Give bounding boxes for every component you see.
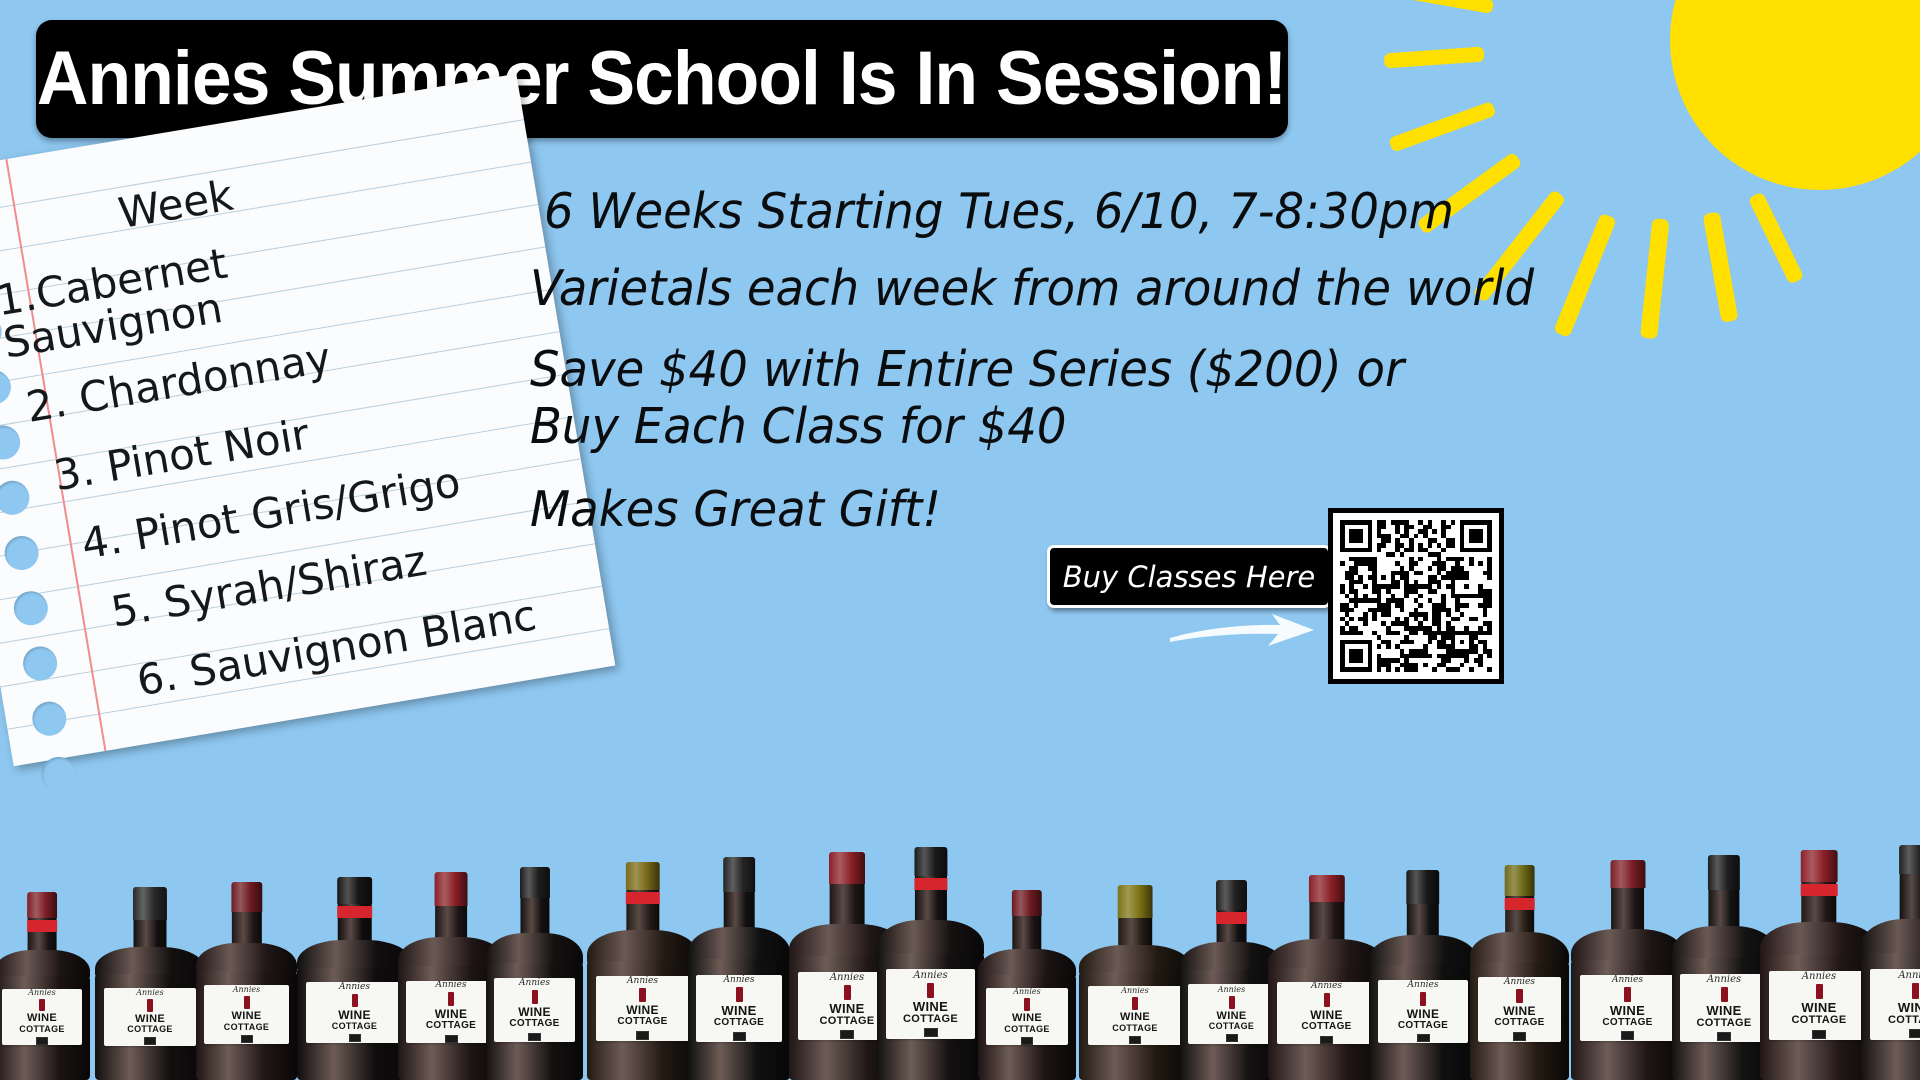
bottle-label-wine: WINE <box>27 1013 57 1025</box>
bottle-capsule <box>625 862 659 890</box>
bottle-label-script: Annies <box>1121 987 1148 995</box>
copy-varietals: Varietals each week from around the worl… <box>530 262 1509 317</box>
bottle-shoulder <box>587 930 698 965</box>
bottle-capsule <box>1118 885 1153 918</box>
bottle-label: AnniesWINECOTTAGE <box>1580 975 1675 1041</box>
bottle-label: AnniesWINECOTTAGE <box>1188 984 1275 1044</box>
wine-bottle: AnniesWINECOTTAGE <box>0 892 90 1080</box>
notepad-content: Week 1.CabernetSauvignon 2. Chardonnay 3… <box>0 74 615 766</box>
bottle-label-script: Annies <box>436 981 467 990</box>
bottle-label-emblem <box>448 992 454 1006</box>
bottle-label: AnniesWINECOTTAGE <box>1870 969 1920 1040</box>
bottle-label: AnniesWINECOTTAGE <box>1378 980 1469 1043</box>
bottle-label-emblem <box>244 996 250 1009</box>
bottle-label-cottage: COTTAGE <box>19 1025 64 1034</box>
bottle-label-box <box>1621 1031 1634 1040</box>
bottle-label-cottage: COTTAGE <box>509 1019 559 1030</box>
bottle-label: AnniesWINECOTTAGE <box>2 989 83 1045</box>
bottle-capsule <box>27 892 57 918</box>
bottle-label-emblem <box>1721 987 1728 1002</box>
bottle-label-cottage: COTTAGE <box>617 1017 667 1028</box>
wine-bottle: AnniesWINECOTTAGE <box>196 882 297 1080</box>
bottle-label-wine: WINE <box>1407 1008 1440 1021</box>
bottle-label: AnniesWINECOTTAGE <box>306 982 403 1043</box>
bottle-capsule <box>231 882 262 912</box>
bottle-capsule <box>133 887 167 920</box>
bottle-capsule-ring <box>1801 884 1838 896</box>
bottle-capsule <box>914 847 947 876</box>
bottle-capsule <box>1708 855 1740 890</box>
sun-ray <box>1640 218 1669 339</box>
bottle-label-cottage: COTTAGE <box>714 1018 764 1029</box>
promo-copy: 6 Weeks Starting Tues, 6/10, 7-8:30pm Va… <box>530 185 1560 537</box>
bottle-label-script: Annies <box>28 989 55 997</box>
bottle-label-box <box>1320 1036 1333 1044</box>
bottle-label-cottage: COTTAGE <box>1602 1018 1652 1029</box>
wine-bottle-row: AnniesWINECOTTAGEAnniesWINECOTTAGEAnnies… <box>0 820 1920 1080</box>
bottle-label: AnniesWINECOTTAGE <box>494 978 576 1042</box>
bottle-label-script: Annies <box>1013 988 1040 996</box>
bottle-label-cottage: COTTAGE <box>1209 1022 1254 1031</box>
bottle-label-wine: WINE <box>232 1011 262 1023</box>
bottle-label-cottage: COTTAGE <box>224 1023 269 1032</box>
bottle-capsule-ring <box>27 920 57 932</box>
bottle-shoulder <box>688 927 790 963</box>
sun-ray <box>1388 101 1496 153</box>
bottle-shoulder <box>1861 919 1920 957</box>
notepad-heading: Week <box>115 171 237 238</box>
bottle-label-box <box>1909 1029 1920 1038</box>
bottle-label: AnniesWINECOTTAGE <box>1088 986 1182 1045</box>
bottle-label-wine: WINE <box>913 1000 948 1014</box>
bottle-label-script: Annies <box>1504 978 1535 987</box>
sun-ray <box>1407 0 1494 14</box>
bottle-capsule-ring <box>625 892 659 904</box>
bottle-capsule <box>1308 875 1344 902</box>
bottle-label-box <box>1021 1037 1033 1045</box>
bottle-label: AnniesWINECOTTAGE <box>204 985 289 1044</box>
bottle-capsule <box>1899 845 1920 874</box>
bottle-label-script: Annies <box>1311 982 1342 991</box>
wine-bottle: AnniesWINECOTTAGE <box>1470 865 1569 1080</box>
bottle-capsule <box>519 867 549 898</box>
bottle-label: AnniesWINECOTTAGE <box>596 976 689 1041</box>
bottle-label-box <box>733 1032 746 1041</box>
bottle-label-script: Annies <box>830 973 864 983</box>
bottle-label-emblem <box>1816 984 1823 999</box>
bottle-label-cottage: COTTAGE <box>1004 1025 1049 1034</box>
bottle-label: AnniesWINECOTTAGE <box>1680 974 1767 1042</box>
buy-classes-button[interactable]: Buy Classes Here <box>1047 545 1331 608</box>
bottle-label-cottage: COTTAGE <box>1791 1015 1846 1027</box>
bottle-label-script: Annies <box>519 979 550 988</box>
bottle-label-box <box>528 1033 541 1041</box>
bottle-label: AnniesWINECOTTAGE <box>1277 982 1375 1044</box>
bottle-capsule <box>1406 870 1439 904</box>
bottle-label-emblem <box>1324 993 1330 1007</box>
notepad-item-3: 3. Pinot Noir <box>51 413 312 498</box>
qr-code-matrix <box>1340 520 1492 672</box>
bottle-label-box <box>1129 1036 1141 1044</box>
copy-class-price: Buy Each Class for $40 <box>530 400 1509 455</box>
notepad-item-1: 1.CabernetSauvignon <box>0 242 237 365</box>
bottle-label-cottage: COTTAGE <box>1888 1015 1920 1027</box>
wine-bottle: AnniesWINECOTTAGE <box>1861 845 1920 1080</box>
bottle-label-emblem <box>1132 997 1138 1010</box>
bottle-capsule-ring <box>1504 898 1535 910</box>
bottle-label-cottage: COTTAGE <box>1494 1018 1544 1029</box>
sun-ray <box>1702 212 1738 323</box>
buy-classes-button-label: Buy Classes Here <box>1063 560 1316 594</box>
bottle-capsule <box>1610 860 1645 888</box>
bottle-label-box <box>349 1034 361 1042</box>
bottle-label-wine: WINE <box>1898 1001 1920 1015</box>
bottle-label: AnniesWINECOTTAGE <box>1478 977 1561 1042</box>
notepad: Week 1.CabernetSauvignon 2. Chardonnay 3… <box>0 74 615 766</box>
bottle-label-script: Annies <box>913 971 947 981</box>
bottle-label: AnniesWINECOTTAGE <box>986 988 1068 1045</box>
bottle-label-box <box>1226 1034 1238 1042</box>
wine-bottle: AnniesWINECOTTAGE <box>1369 870 1477 1080</box>
bottle-label-wine: WINE <box>338 1009 371 1022</box>
bottle-label-emblem <box>1024 998 1030 1011</box>
sun-ray <box>1384 46 1485 68</box>
bottle-label-box <box>840 1030 854 1039</box>
wine-bottle: AnniesWINECOTTAGE <box>297 877 412 1080</box>
bottle-label-script: Annies <box>1612 976 1643 985</box>
bottle-label-box <box>36 1037 48 1045</box>
arrow-right-icon <box>1168 612 1318 654</box>
bottle-label-cottage: COTTAGE <box>1112 1024 1157 1033</box>
bottle-label-script: Annies <box>136 989 163 997</box>
wine-bottle: AnniesWINECOTTAGE <box>486 867 583 1080</box>
bottle-label-emblem <box>1229 996 1235 1009</box>
title-banner: Annies Summer School Is In Session! <box>36 20 1288 138</box>
bottle-capsule <box>723 857 755 892</box>
bottle-label-cottage: COTTAGE <box>1398 1021 1448 1032</box>
bottle-label-emblem <box>639 988 646 1002</box>
bottle-label-wine: WINE <box>721 1004 756 1018</box>
bottle-label-script: Annies <box>233 986 260 994</box>
bottle-label-emblem <box>147 999 153 1012</box>
bottle-label-script: Annies <box>1802 972 1836 982</box>
bottle-capsule-ring <box>1216 912 1248 924</box>
bottle-capsule <box>1012 890 1042 916</box>
wine-bottle: AnniesWINECOTTAGE <box>95 887 205 1080</box>
bottle-label-script: Annies <box>724 976 755 985</box>
bottle-label: AnniesWINECOTTAGE <box>104 988 196 1046</box>
qr-module <box>1487 667 1492 672</box>
bottle-capsule <box>337 877 373 904</box>
sun-ray <box>1553 213 1617 338</box>
bottle-capsule <box>1504 865 1535 896</box>
bottle-label-emblem <box>1420 992 1426 1006</box>
bottle-label-script: Annies <box>339 983 370 992</box>
bottle-capsule-ring <box>914 878 947 890</box>
bottle-capsule <box>1801 850 1838 882</box>
poster-canvas: Annies Summer School Is In Session! Week… <box>0 0 1920 1080</box>
bottle-label-script: Annies <box>1408 981 1439 990</box>
bottle-label-script: Annies <box>1707 975 1741 985</box>
bottle-label-script: Annies <box>627 977 658 986</box>
bottle-label-emblem <box>352 994 358 1007</box>
bottle-label-emblem <box>927 983 934 998</box>
bottle-label-wine: WINE <box>829 1002 864 1016</box>
bottle-label-emblem <box>532 990 538 1004</box>
wine-bottle: AnniesWINECOTTAGE <box>877 847 984 1080</box>
bottle-label-cottage: COTTAGE <box>426 1021 476 1032</box>
bottle-shoulder <box>486 933 583 967</box>
wine-bottle: AnniesWINECOTTAGE <box>1079 885 1191 1080</box>
bottle-label-emblem <box>1516 989 1523 1003</box>
bottle-label-wine: WINE <box>1012 1013 1042 1025</box>
bottle-label-cottage: COTTAGE <box>819 1016 874 1028</box>
bottle-label-emblem <box>39 999 45 1011</box>
bottle-label-cottage: COTTAGE <box>1696 1018 1751 1030</box>
bottle-label-cottage: COTTAGE <box>127 1025 172 1034</box>
sun-ray <box>1748 191 1804 284</box>
bottle-label-box <box>636 1031 649 1040</box>
bottle-label-script: Annies <box>1218 986 1245 994</box>
bottle-label-cottage: COTTAGE <box>332 1022 377 1031</box>
bottle-label-box <box>241 1035 253 1043</box>
bottle-label-box <box>144 1037 156 1045</box>
bottle-label-box <box>1417 1034 1430 1042</box>
bottle-label-wine: WINE <box>1801 1001 1836 1015</box>
wine-bottle: AnniesWINECOTTAGE <box>1268 875 1385 1080</box>
bottle-label-emblem <box>844 985 851 1000</box>
bottle-label-emblem <box>1912 983 1919 999</box>
bottle-label-emblem <box>736 987 743 1002</box>
bottle-label-box <box>1812 1030 1826 1039</box>
bottle-capsule <box>829 852 865 884</box>
bottle-label-cottage: COTTAGE <box>1301 1022 1351 1033</box>
bottle-capsule <box>435 872 468 906</box>
bottle-label-box <box>1717 1032 1731 1041</box>
wine-bottle: AnniesWINECOTTAGE <box>1571 860 1684 1080</box>
bottle-label-cottage: COTTAGE <box>903 1014 958 1026</box>
bottle-label: AnniesWINECOTTAGE <box>406 981 495 1043</box>
wine-bottle: AnniesWINECOTTAGE <box>587 862 698 1080</box>
bottle-label: AnniesWINECOTTAGE <box>1769 971 1868 1040</box>
copy-series-price: Save $40 with Entire Series ($200) or <box>530 343 1509 398</box>
qr-code[interactable] <box>1328 508 1504 684</box>
bottle-shoulder <box>877 920 984 957</box>
bottle-capsule <box>1216 880 1248 910</box>
bottle-shoulder <box>1571 929 1684 964</box>
sun-disc <box>1670 0 1920 190</box>
wine-bottle: AnniesWINECOTTAGE <box>978 890 1076 1080</box>
bottle-label-box <box>924 1028 938 1037</box>
bottle-label-wine: WINE <box>1610 1004 1645 1018</box>
bottle-shoulder <box>1369 935 1477 969</box>
bottle-shoulder <box>1470 932 1569 966</box>
bottle-label-box <box>1513 1032 1526 1041</box>
copy-schedule: 6 Weeks Starting Tues, 6/10, 7-8:30pm <box>544 185 1509 240</box>
bottle-label-script: Annies <box>1898 971 1920 981</box>
wine-bottle: AnniesWINECOTTAGE <box>688 857 790 1080</box>
bottle-label-wine: WINE <box>1120 1012 1150 1024</box>
bottle-label: AnniesWINECOTTAGE <box>886 969 976 1039</box>
bottle-label: AnniesWINECOTTAGE <box>696 975 782 1042</box>
bottle-label-emblem <box>1624 987 1631 1002</box>
bottle-capsule-ring <box>337 906 373 918</box>
page-title: Annies Summer School Is In Session! <box>37 41 1286 117</box>
bottle-label-box <box>445 1035 458 1043</box>
bottle-label-wine: WINE <box>1706 1004 1741 1018</box>
